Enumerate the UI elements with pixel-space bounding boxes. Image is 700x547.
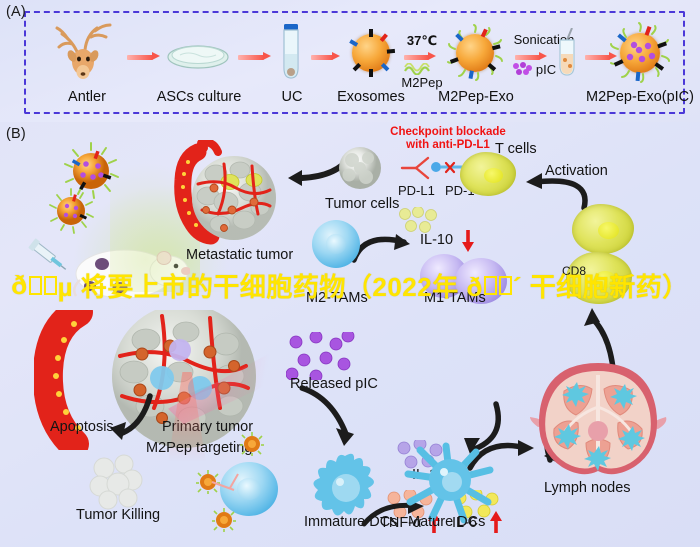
m2pep-squiggle-icon [404, 62, 438, 74]
label-antler: Antler [40, 89, 134, 105]
exosome-illustration [345, 27, 397, 79]
label-m2pep-targeting: M2Pep targeting [146, 440, 252, 456]
culture-dish-illustration [166, 43, 230, 71]
label-uc: UC [252, 89, 332, 105]
label-t-cells: T cells [495, 141, 537, 157]
lymph-node-illustration [528, 357, 668, 479]
arrow-culture-to-uc [238, 52, 271, 61]
label-temperature: 37℃ [402, 33, 442, 49]
t-cell-engaged [460, 152, 516, 196]
metastatic-tumor-illustration [168, 140, 293, 250]
dying-tumor-cell-illustration [86, 452, 146, 512]
targeting-exosome-1 [240, 432, 264, 456]
label-metastatic-tumor: Metastatic tumor [186, 247, 293, 263]
panel-a-label: (A) [6, 4, 26, 20]
t-cell-activated-2 [566, 252, 632, 304]
released-pic-dots [286, 332, 356, 380]
label-pd-l1: PD-L1 [398, 183, 435, 198]
panel-a: Antler ASCs culture UC [0, 0, 700, 122]
label-exosomes: Exosomes [326, 89, 416, 105]
centrifuge-tube-illustration [280, 24, 302, 80]
panel-b: Metastatic tumor Tumor cell [0, 122, 700, 547]
targeting-exosome-3 [212, 508, 236, 532]
label-activation: Activation [545, 163, 608, 179]
label-cd8: CD8 [562, 264, 586, 278]
checkpoint-line-2: with anti-PD-L1 [406, 139, 490, 151]
arrow-m2pepexo-to-sonication [515, 52, 547, 61]
label-tumor-killing: Tumor Killing [76, 507, 160, 523]
sonicator-tube-illustration [555, 28, 579, 80]
label-tumor-cells: Tumor cells [325, 196, 399, 212]
m2-tam-cell [312, 220, 360, 268]
arrow-exosomes-to-m2pepexo [404, 52, 436, 61]
t-cell-activated-1 [572, 204, 634, 254]
label-m2-tams: M2-TAMs [306, 290, 368, 306]
label-apoptosis: Apoptosis [50, 419, 114, 435]
label-lymph-nodes: Lymph nodes [544, 480, 631, 496]
antler-illustration [52, 20, 122, 82]
label-m2pep-exo: M2Pep-Exo [414, 89, 538, 105]
targeting-link-line [208, 472, 252, 498]
arrow-m2tam-to-m1tam [352, 230, 418, 266]
label-m1-tams: M1-TAMs [424, 290, 486, 306]
il10-down-arrow-icon [462, 230, 474, 252]
figure-canvas: Antler ASCs culture UC [0, 0, 700, 547]
syringe-icon [24, 235, 70, 277]
label-m2pep-exo-pic: M2Pep-Exo(pIC) [578, 89, 700, 105]
pic-dots-icon [512, 62, 534, 76]
arrow-uc-to-exosomes [311, 52, 340, 61]
label-mature-dcs: Mature DCs [408, 514, 485, 530]
label-il10: IL-10 [420, 232, 453, 248]
arrow-antler-to-culture [127, 52, 160, 61]
m2pep-exosome-illustration [445, 23, 505, 83]
label-ascs-culture: ASCs culture [152, 89, 246, 105]
m2pep-exo-pic-illustration [608, 21, 672, 85]
label-m2pep: M2Pep [398, 75, 446, 90]
checkpoint-line-1: Checkpoint blockade [390, 126, 506, 138]
arrow-tumor-to-immaturedc [300, 384, 370, 446]
